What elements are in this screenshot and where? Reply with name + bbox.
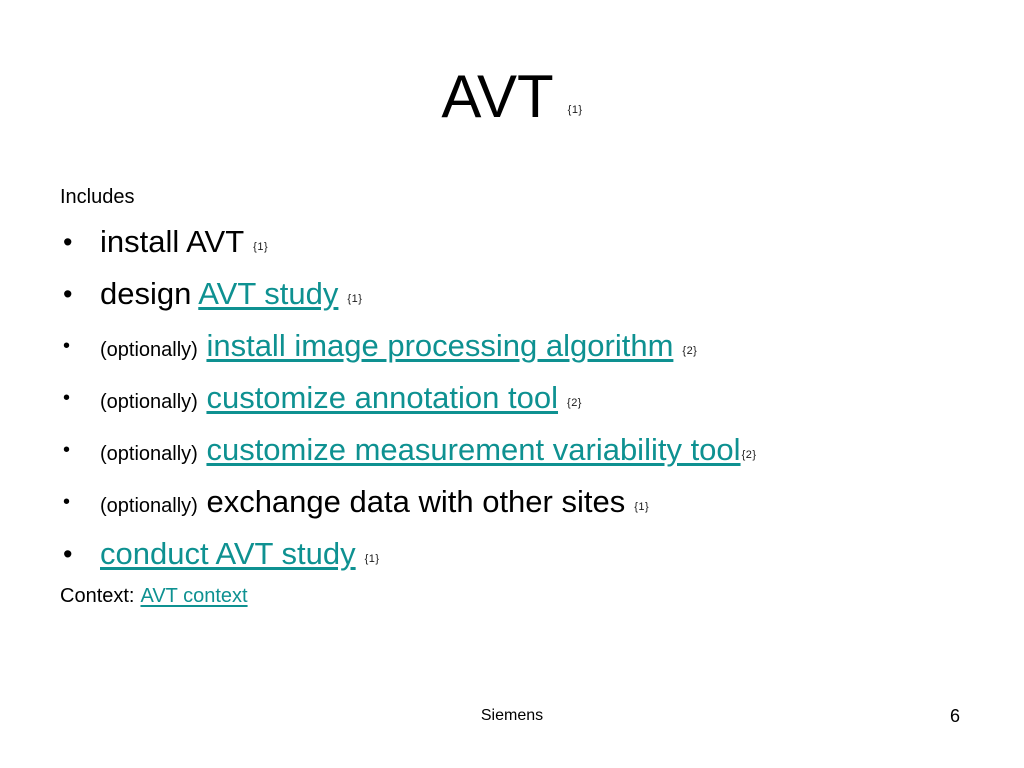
footer-page-number: 6 (950, 705, 960, 727)
list-item: •(optionally) customize measurement vari… (60, 424, 1000, 476)
bullet-list: •install AVT{1} •design AVT study{1} •(o… (60, 216, 1000, 580)
bullet-icon: • (63, 320, 70, 372)
link-customize-annotation-tool[interactable]: customize annotation tool (206, 380, 558, 415)
page-title: AVT{1} (0, 62, 1024, 149)
includes-label: Includes (60, 184, 1000, 210)
bullet-reference: {1} (253, 241, 268, 253)
link-install-image-processing-algorithm[interactable]: install image processing algorithm (206, 328, 673, 363)
bullet-icon: • (63, 528, 72, 580)
context-label: Context: (60, 585, 134, 607)
footer-company: Siemens (0, 705, 1024, 727)
page-title-reference: {1} (568, 104, 583, 116)
list-item: •(optionally) exchange data with other s… (60, 476, 1000, 528)
link-avt-study[interactable]: AVT study (198, 276, 338, 311)
bullet-reference: {2} (567, 397, 582, 409)
bullet-reference: {2} (682, 345, 697, 357)
bullet-plain-text: exchange data with other sites (206, 484, 625, 519)
bullet-plain-text: design (100, 276, 198, 311)
link-avt-context[interactable]: AVT context (140, 585, 247, 607)
optional-tag: (optionally) (100, 339, 198, 361)
list-item: •(optionally) customize annotation tool{… (60, 372, 1000, 424)
list-item: •(optionally) install image processing a… (60, 320, 1000, 372)
bullet-reference: {2} (742, 449, 757, 461)
list-item: •conduct AVT study{1} (60, 528, 1000, 580)
slide-body: Includes •install AVT{1} •design AVT stu… (60, 184, 1000, 610)
optional-tag: (optionally) (100, 391, 198, 413)
bullet-reference: {1} (634, 501, 649, 513)
page-title-text: AVT (441, 63, 553, 130)
bullet-icon: • (63, 216, 72, 268)
slide-canvas: AVT{1} Includes •install AVT{1} •design … (0, 0, 1024, 768)
list-item: •install AVT{1} (60, 216, 1000, 268)
bullet-icon: • (63, 268, 72, 320)
optional-tag: (optionally) (100, 443, 198, 465)
bullet-icon: • (63, 476, 70, 528)
bullet-reference: {1} (365, 553, 380, 565)
link-customize-measurement-variability-tool[interactable]: customize measurement variability tool (206, 432, 740, 467)
bullet-icon: • (63, 372, 70, 424)
list-item: •design AVT study{1} (60, 268, 1000, 320)
optional-tag: (optionally) (100, 495, 198, 517)
bullet-icon: • (63, 424, 70, 476)
link-conduct-avt-study[interactable]: conduct AVT study (100, 536, 356, 571)
bullet-plain-text: install AVT (100, 224, 244, 259)
bullet-reference: {1} (347, 293, 362, 305)
context-line: Context:AVT context (60, 582, 1000, 610)
